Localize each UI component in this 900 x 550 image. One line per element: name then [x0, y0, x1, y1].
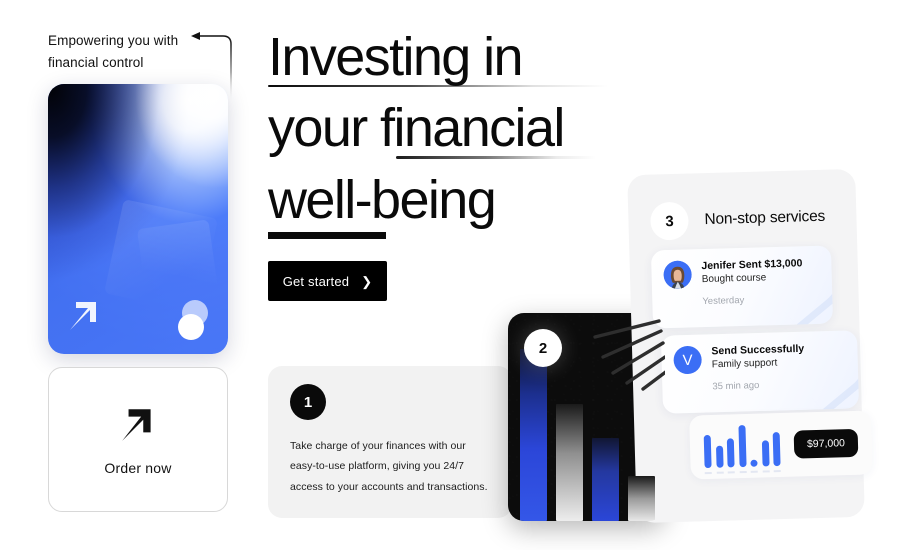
step-two-badge: 2 — [524, 329, 562, 367]
headline-line-3: well-being — [268, 165, 668, 240]
order-now-label: Order now — [104, 460, 171, 476]
user-photo-avatar — [663, 260, 692, 289]
bar-slot — [726, 425, 734, 467]
bar-slot — [749, 425, 757, 467]
chip-circle-bottom — [178, 314, 204, 340]
get-started-label: Get started — [283, 274, 350, 289]
bar-tick — [762, 470, 769, 472]
bar-6 — [761, 440, 769, 466]
bar-slot — [715, 426, 723, 468]
chevron-right-icon: ❯ — [361, 275, 372, 288]
notification-texts: Jenifer Sent $13,000 Bought course — [701, 257, 803, 285]
balance-amount: $97,000 — [794, 429, 859, 459]
tagline: Empowering you with financial control — [48, 30, 198, 75]
credit-card-visual — [48, 84, 228, 354]
arrow-up-right-logo-icon — [64, 296, 104, 336]
bar-slot — [772, 424, 780, 466]
landing-page: Empowering you with financial control — [0, 0, 900, 550]
dark-bar-1 — [520, 349, 547, 521]
bar-slot — [738, 425, 746, 467]
headline-line-2: your financial — [268, 93, 668, 158]
step-one-text: Take charge of your finances with our ea… — [290, 436, 490, 497]
notification-row: Jenifer Sent $13,000 Bought course — [651, 246, 832, 290]
dark-bar-2 — [556, 404, 583, 521]
notification-title: Send Successfully — [711, 343, 804, 358]
notification-item[interactable]: Jenifer Sent $13,000 Bought course Yeste… — [651, 246, 833, 329]
bar-1 — [704, 435, 712, 468]
step-one-card: 1 Take charge of your finances with our … — [268, 366, 512, 518]
headline-text-2: your financial — [268, 93, 564, 165]
step-two-bar-chart — [520, 349, 665, 521]
notification-subtitle: Bought course — [702, 271, 803, 285]
bar-tick — [728, 471, 735, 473]
page-title: Investing in your financial well-being — [268, 22, 668, 245]
card-emboss-shape-2 — [137, 220, 219, 307]
balance-widget[interactable]: $97,000 — [689, 410, 873, 479]
balance-bar-chart — [703, 424, 780, 468]
headline-text-3: well-being — [268, 165, 495, 237]
bar-tick — [716, 472, 723, 474]
bar-3 — [727, 439, 735, 468]
bar-slot — [761, 424, 769, 466]
bar-tick — [751, 471, 758, 473]
notification-subtitle: Family support — [712, 357, 805, 371]
step-one-badge: 1 — [290, 384, 326, 420]
avatar-initial: V — [673, 346, 702, 375]
bar-4 — [738, 425, 746, 467]
bar-7 — [773, 432, 781, 466]
step-two-card: 2 — [508, 313, 665, 521]
bar-5 — [750, 460, 757, 467]
headline-text-1: Investing in — [268, 22, 522, 94]
letter-avatar: V — [673, 346, 702, 375]
bar-tick — [774, 470, 781, 472]
notification-title: Jenifer Sent $13,000 — [701, 257, 802, 272]
step-three-header: 3 Non-stop services — [650, 198, 826, 241]
dark-bar-4 — [628, 476, 655, 521]
bar-tick — [705, 472, 712, 474]
bar-tick — [739, 471, 746, 473]
bar-2 — [716, 446, 724, 468]
step-three-title: Non-stop services — [704, 208, 825, 229]
arrow-up-right-logo-icon — [117, 404, 159, 446]
get-started-button[interactable]: Get started ❯ — [268, 261, 387, 301]
overlapping-circles-icon — [176, 300, 214, 340]
notification-texts: Send Successfully Family support — [711, 343, 804, 371]
notification-row: V Send Successfully Family support — [661, 330, 858, 374]
dark-bar-3 — [592, 438, 619, 521]
bar-slot — [703, 426, 711, 468]
notification-item[interactable]: V Send Successfully Family support 35 mi… — [661, 330, 859, 413]
step-three-badge: 3 — [650, 202, 689, 241]
order-now-card[interactable]: Order now — [48, 367, 228, 512]
headline-line-1: Investing in — [268, 22, 668, 87]
